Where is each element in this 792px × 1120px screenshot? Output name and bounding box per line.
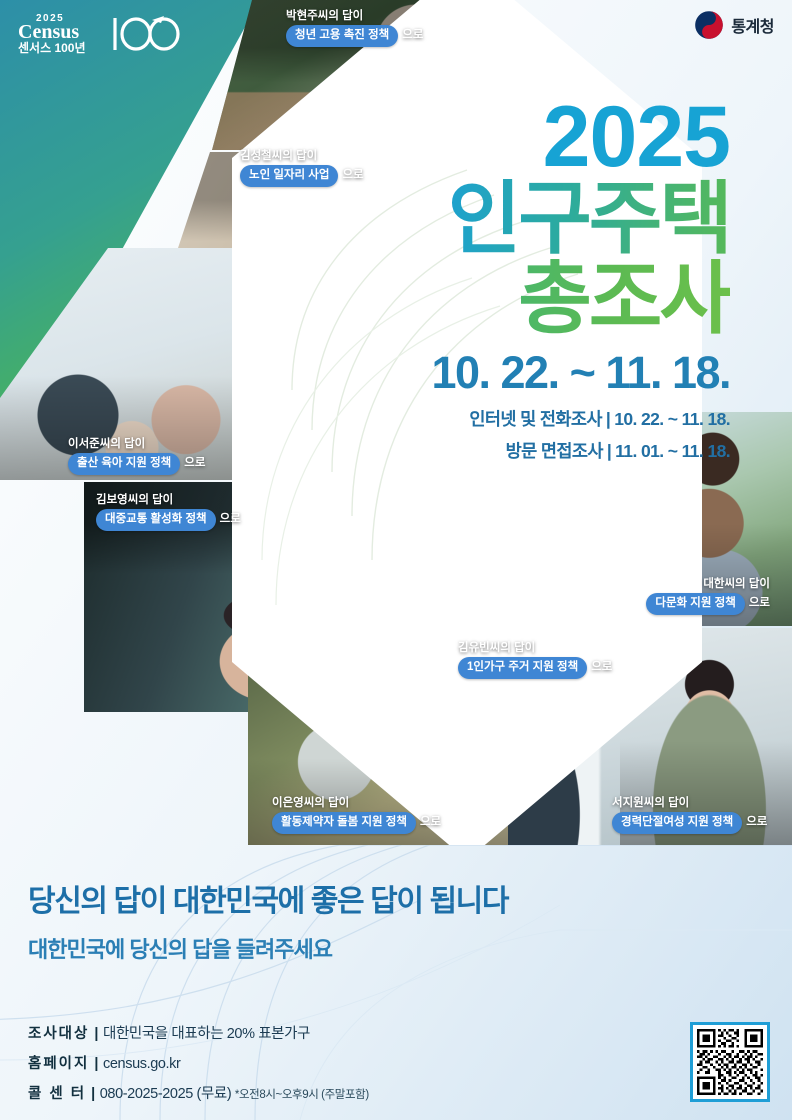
headline-year: 2025 (431, 98, 730, 177)
caption-policy-pill: 활동제약자 돌봄 지원 정책 (272, 812, 416, 834)
census-poster: 박현주씨의 답이 청년 고용 촉진 정책 으로 김성철씨의 답이 노인 일자리 … (0, 0, 792, 1120)
caption-policy-pill: 청년 고용 촉진 정책 (286, 25, 398, 47)
caption-suffix: 으로 (402, 27, 423, 44)
caption-person: 이은영씨의 답이 (272, 795, 441, 812)
census-100-logo: 2025 Census 센서스 100년 (14, 8, 184, 61)
caption-kim-seongchul: 김성철씨의 답이 노인 일자리 사업 으로 (240, 148, 364, 187)
caption-person: 김성철씨의 답이 (240, 148, 364, 165)
caption-person: 박현주씨의 답이 (286, 8, 423, 25)
caption-person: 대한씨의 답이 (646, 576, 770, 593)
logo-100-infinity-icon (115, 18, 178, 50)
caption-kim-boyoung: 김보영씨의 답이 대중교통 활성화 정책 으로 (96, 492, 241, 531)
headline-date-range: 10. 22. ~ 11. 18. (431, 347, 730, 399)
footer-homepage-link[interactable]: census.go.kr (103, 1056, 180, 1072)
footer-label: 홈페이지 (28, 1056, 89, 1072)
caption-park-hyunju: 박현주씨의 답이 청년 고용 촉진 정책 으로 (286, 8, 423, 47)
subdate-internet-phone: 인터넷 및 전화조사|10. 22. ~ 11. 18. (431, 406, 730, 431)
caption-lee-eunyoung: 이은영씨의 답이 활동제약자 돌봄 지원 정책 으로 (272, 795, 441, 834)
caption-suffix: 으로 (746, 814, 767, 831)
caption-suffix: 으로 (420, 814, 441, 831)
headline-block: 2025 인구주택 총조사 10. 22. ~ 11. 18. 인터넷 및 전화… (431, 98, 730, 463)
census-qr-code[interactable] (690, 1022, 770, 1102)
subdate-label: 방문 면접조사 (506, 441, 603, 461)
footer-label: 조사대상 (28, 1026, 89, 1042)
headline-title-line1: 인구주택 (431, 179, 730, 259)
logo-korean: 센서스 100년 (18, 40, 86, 55)
caption-suffix: 으로 (591, 659, 612, 676)
caption-policy-pill: 1인가구 주거 지원 정책 (458, 657, 587, 679)
caption-person: 김유빈씨의 답이 (458, 640, 612, 657)
footer-line-homepage[interactable]: 홈페이지|census.go.kr (28, 1052, 369, 1073)
caption-policy-pill: 대중교통 활성화 정책 (96, 509, 216, 531)
subdate-value: 10. 22. ~ 11. 18. (614, 409, 730, 429)
caption-suffix: 으로 (220, 511, 241, 528)
caption-policy-pill: 다문화 지원 정책 (646, 593, 744, 615)
headline-title-line2: 총조사 (431, 259, 730, 339)
footer-hours-note: *오전8시~오후9시 (주말포함) (235, 1089, 369, 1101)
slogan-sub: 대한민국에 당신의 답을 들려주세요 (28, 932, 508, 964)
caption-suffix: 으로 (184, 455, 205, 472)
slogan-main: 당신의 답이 대한민국에 좋은 답이 됩니다 (28, 884, 508, 920)
subdate-value: 11. 01. ~ 11. 18. (615, 441, 730, 461)
footer-bar: | (89, 1056, 103, 1072)
caption-policy-pill: 노인 일자리 사업 (240, 165, 338, 187)
footer-value: 대한민국을 대표하는 20% 표본가구 (103, 1026, 310, 1042)
footer-line-callcenter[interactable]: 콜 센 터|080-2025-2025 (무료) *오전8시~오후9시 (주말포… (28, 1082, 369, 1103)
agency-name: 통계청 (731, 13, 774, 37)
caption-seo-jiwon: 서지원씨의 답이 경력단절여성 지원 정책 으로 (612, 795, 767, 834)
subdate-separator: | (602, 409, 614, 429)
caption-suffix: 으로 (749, 595, 770, 612)
slogan-block: 당신의 답이 대한민국에 좋은 답이 됩니다 대한민국에 당신의 답을 들려주세… (28, 884, 508, 964)
footer-label: 콜 센 터 (28, 1086, 86, 1102)
caption-policy-pill: 경력단절여성 지원 정책 (612, 812, 742, 834)
footer-line-target: 조사대상|대한민국을 대표하는 20% 표본가구 (28, 1022, 369, 1043)
subdate-visit-interview: 방문 면접조사|11. 01. ~ 11. 18. (431, 438, 730, 463)
subdate-label: 인터넷 및 전화조사 (469, 409, 602, 429)
caption-suffix: 으로 (342, 167, 363, 184)
caption-lee-seojun: 이서준씨의 답이 출산 육아 지원 정책 으로 (68, 436, 205, 475)
footer-info: 조사대상|대한민국을 대표하는 20% 표본가구 홈페이지|census.go.… (28, 1022, 369, 1112)
caption-kim-yubin: 김유빈씨의 답이 1인가구 주거 지원 정책 으로 (458, 640, 612, 679)
taegeuk-icon (694, 10, 724, 40)
subdate-separator: | (603, 441, 615, 461)
footer-bar: | (89, 1026, 103, 1042)
census-logo-mark: 2025 Census 센서스 100년 (14, 8, 184, 56)
footer-bar: | (86, 1086, 100, 1102)
caption-person: 김보영씨의 답이 (96, 492, 241, 509)
footer-phone-number[interactable]: 080-2025-2025 (무료) (100, 1086, 232, 1102)
logo-wordmark: Census (18, 21, 79, 43)
caption-person: 이서준씨의 답이 (68, 436, 205, 453)
caption-person: 서지원씨의 답이 (612, 795, 767, 812)
caption-daehan: 대한씨의 답이 다문화 지원 정책 으로 (646, 576, 770, 615)
statistics-korea-logo: 통계청 (694, 10, 774, 40)
caption-policy-pill: 출산 육아 지원 정책 (68, 453, 180, 475)
qr-code-image (697, 1029, 763, 1095)
